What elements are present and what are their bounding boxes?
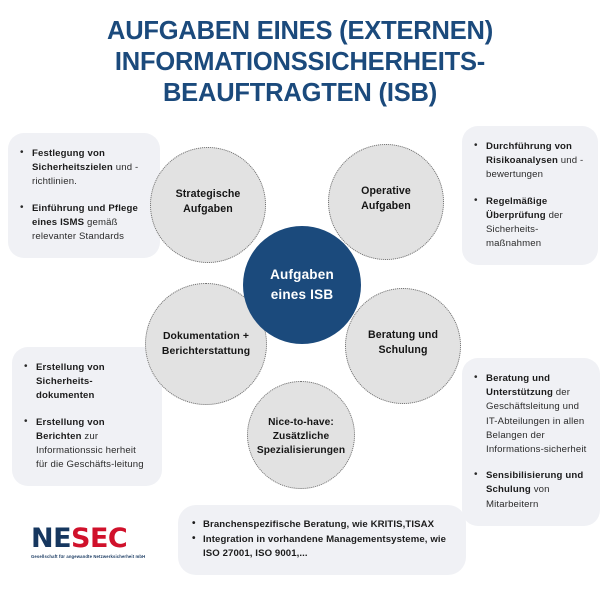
info-box-top-left-list: Festlegung von Sicherheitszielen und -ri… <box>20 147 148 244</box>
circle-label-line-2: Berichterstattung <box>162 346 250 357</box>
info-box-bottom-center: Branchenspezifische Beratung, wie KRITIS… <box>178 505 466 575</box>
circle-label-line-3: Spezialisierungen <box>257 445 345 456</box>
info-box-bottom-center-list: Branchenspezifische Beratung, wie KRITIS… <box>192 518 452 562</box>
circle-beratung-schulung: Beratung und Schulung <box>345 288 461 404</box>
list-item: Beratung und Unterstützung der Geschäfts… <box>474 372 588 457</box>
circle-label-line-2: Schulung <box>378 344 427 356</box>
circle-operative-aufgaben: Operative Aufgaben <box>328 144 444 260</box>
list-item-bold: Festlegung von Sicherheitszielen <box>32 148 113 173</box>
circle-strategische-aufgaben: Strategische Aufgaben <box>150 147 266 263</box>
info-box-top-left: Festlegung von Sicherheitszielen und -ri… <box>8 133 160 258</box>
center-circle-line-2: eines ISB <box>271 287 334 302</box>
circle-label: Nice-to-have: Zusätzliche Spezialisierun… <box>253 416 349 458</box>
circle-label-line-1: Nice-to-have: <box>268 417 334 428</box>
circle-label-line-2: Aufgaben <box>361 200 411 212</box>
info-box-bottom-right-list: Beratung und Unterstützung der Geschäfts… <box>474 372 588 512</box>
circle-label: Operative Aufgaben <box>357 184 415 214</box>
circle-label-line-2: Zusätzliche <box>273 431 330 442</box>
list-item: Festlegung von Sicherheitszielen und -ri… <box>20 147 148 190</box>
list-item: Erstellung von Berichten zur Information… <box>24 416 150 473</box>
infographic-page: AUFGABEN EINES (EXTERNEN) INFORMATIONSSI… <box>0 0 600 600</box>
page-title-line-2: INFORMATIONSSICHERHEITS- <box>40 47 560 78</box>
list-item: Erstellung von Sicherheits-dokumenten <box>24 361 150 404</box>
nesec-logo: NESEC Gesellschaft für angewandte Netzwe… <box>31 525 171 559</box>
logo-wordmark: NESEC <box>31 525 171 553</box>
logo-sec-text: SEC <box>71 523 127 554</box>
info-box-top-right-list: Durchführung von Risikoanalysen und -bew… <box>474 140 586 251</box>
list-item-bold: Regelmäßige Überprüfung <box>486 196 547 221</box>
circle-label-line-2: Aufgaben <box>183 203 233 215</box>
circle-label-line-1: Operative <box>361 185 411 197</box>
circle-label-line-1: Strategische <box>176 188 241 200</box>
page-title-line-1: AUFGABEN EINES (EXTERNEN) <box>40 16 560 47</box>
list-item: Sensibilisierung und Schulung von Mitarb… <box>474 469 588 512</box>
center-circle-line-1: Aufgaben <box>270 267 334 282</box>
info-box-bottom-left: Erstellung von Sicherheits-dokumenten Er… <box>12 347 162 486</box>
list-item-bold: Erstellung von Sicherheits-dokumenten <box>36 362 105 401</box>
center-circle-label: Aufgaben eines ISB <box>270 265 334 305</box>
info-box-bottom-right: Beratung und Unterstützung der Geschäfts… <box>462 358 600 526</box>
circle-label: Beratung und Schulung <box>364 328 442 358</box>
circle-label-line-1: Beratung und <box>368 329 438 341</box>
list-item: Regelmäßige Überprüfung der Sicherheits-… <box>474 195 586 252</box>
logo-tagline: Gesellschaft für angewandte Netzwerksich… <box>31 554 171 559</box>
list-item: Einführung und Pflege eines ISMS gemäß r… <box>20 202 148 245</box>
info-box-bottom-left-list: Erstellung von Sicherheits-dokumenten Er… <box>24 361 150 472</box>
circle-label: Dokumentation + Berichterstattung <box>158 329 254 359</box>
logo-ne-text: NE <box>31 523 71 554</box>
list-item: Durchführung von Risikoanalysen und -bew… <box>474 140 586 183</box>
page-title: AUFGABEN EINES (EXTERNEN) INFORMATIONSSI… <box>40 16 560 109</box>
list-item: Integration in vorhandene Managementsyst… <box>192 533 452 562</box>
list-item-bold: Beratung und Unterstützung <box>486 373 553 398</box>
info-box-top-right: Durchführung von Risikoanalysen und -bew… <box>462 126 598 265</box>
list-item: Branchenspezifische Beratung, wie KRITIS… <box>192 518 452 533</box>
circle-label: Strategische Aufgaben <box>172 187 245 217</box>
circle-nice-to-have: Nice-to-have: Zusätzliche Spezialisierun… <box>247 381 355 489</box>
circle-label-line-1: Dokumentation + <box>163 331 249 342</box>
circle-center-aufgaben-eines-isb: Aufgaben eines ISB <box>243 226 361 344</box>
page-title-line-3: BEAUFTRAGTEN (ISB) <box>40 78 560 109</box>
